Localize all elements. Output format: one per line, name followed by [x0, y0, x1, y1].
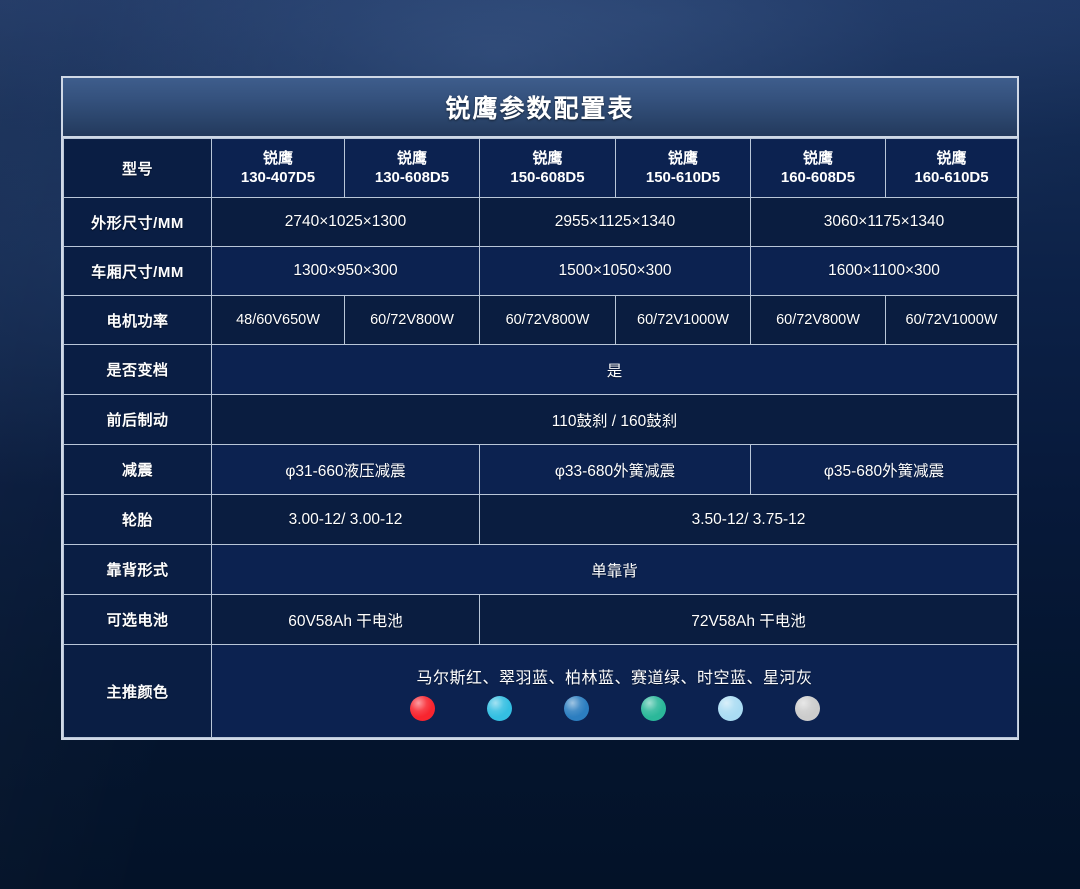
table-row: 轮胎3.00-12/ 3.00-123.50-12/ 3.75-12: [64, 495, 1018, 545]
column-header-model-2: 锐鹰130-608D5: [345, 139, 480, 198]
row-label: 是否变档: [64, 345, 212, 395]
table-header-row: 型号锐鹰130-407D5锐鹰130-608D5锐鹰150-608D5锐鹰150…: [64, 139, 1018, 198]
column-header-code: 150-610D5: [616, 168, 750, 187]
table-cell: φ31-660液压减震: [212, 445, 480, 495]
table-cell: 110鼓刹 / 160鼓刹: [212, 395, 1018, 445]
row-label: 车厢尺寸/MM: [64, 247, 212, 296]
table-cell: 3060×1175×1340: [751, 198, 1018, 247]
column-header-model-3: 锐鹰150-608D5: [480, 139, 616, 198]
row-label-colors: 主推颜色: [64, 645, 212, 738]
row-label: 减震: [64, 445, 212, 495]
row-label: 靠背形式: [64, 545, 212, 595]
row-label: 前后制动: [64, 395, 212, 445]
column-header-model-5: 锐鹰160-608D5: [751, 139, 886, 198]
table-cell: φ35-680外簧减震: [751, 445, 1018, 495]
column-header-code: 130-407D5: [212, 168, 344, 187]
row-label: 外形尺寸/MM: [64, 198, 212, 247]
table-title-bar: 锐鹰参数配置表: [61, 76, 1019, 138]
table-row: 车厢尺寸/MM1300×950×3001500×1050×3001600×110…: [64, 247, 1018, 296]
table-cell: 3.00-12/ 3.00-12: [212, 495, 480, 545]
color-swatch-6[interactable]: [795, 696, 820, 721]
color-names-text: 马尔斯红、翠羽蓝、柏林蓝、赛道绿、时空蓝、星河灰: [416, 664, 812, 688]
column-header-brand: 锐鹰: [345, 149, 479, 168]
table-row: 是否变档是: [64, 345, 1018, 395]
table-cell: 2955×1125×1340: [480, 198, 751, 247]
table-cell: 72V58Ah 干电池: [480, 595, 1018, 645]
page-title: 锐鹰参数配置表: [445, 89, 634, 125]
column-header-code: 150-608D5: [480, 168, 615, 187]
table-row: 可选电池60V58Ah 干电池72V58Ah 干电池: [64, 595, 1018, 645]
table-cell: 60/72V800W: [480, 296, 616, 345]
table-row: 电机功率48/60V650W60/72V800W60/72V800W60/72V…: [64, 296, 1018, 345]
table-cell: 60/72V800W: [751, 296, 886, 345]
table-cell: 48/60V650W: [212, 296, 345, 345]
color-options: 马尔斯红、翠羽蓝、柏林蓝、赛道绿、时空蓝、星河灰: [212, 658, 1017, 725]
table-cell: 60/72V1000W: [886, 296, 1018, 345]
table-cell: 60/72V1000W: [616, 296, 751, 345]
table-row-colors: 主推颜色马尔斯红、翠羽蓝、柏林蓝、赛道绿、时空蓝、星河灰: [64, 645, 1018, 738]
table-cell: 1300×950×300: [212, 247, 480, 296]
column-header-brand: 锐鹰: [480, 149, 615, 168]
table-cell: 60V58Ah 干电池: [212, 595, 480, 645]
color-swatch-list: [410, 696, 820, 721]
spec-table: 型号锐鹰130-407D5锐鹰130-608D5锐鹰150-608D5锐鹰150…: [63, 138, 1018, 738]
table-cell: 2740×1025×1300: [212, 198, 480, 247]
column-header-brand: 锐鹰: [886, 149, 1017, 168]
spec-table-grid: 型号锐鹰130-407D5锐鹰130-608D5锐鹰150-608D5锐鹰150…: [61, 138, 1019, 740]
table-cell: 3.50-12/ 3.75-12: [480, 495, 1018, 545]
column-header-code: 160-608D5: [751, 168, 885, 187]
color-swatch-1[interactable]: [410, 696, 435, 721]
table-cell: φ33-680外簧减震: [480, 445, 751, 495]
table-cell: 1600×1100×300: [751, 247, 1018, 296]
column-header-model-1: 锐鹰130-407D5: [212, 139, 345, 198]
table-row: 外形尺寸/MM2740×1025×13002955×1125×13403060×…: [64, 198, 1018, 247]
table-row: 减震φ31-660液压减震φ33-680外簧减震φ35-680外簧减震: [64, 445, 1018, 495]
table-row: 靠背形式单靠背: [64, 545, 1018, 595]
color-swatch-3[interactable]: [564, 696, 589, 721]
table-cell: 60/72V800W: [345, 296, 480, 345]
color-swatch-2[interactable]: [487, 696, 512, 721]
table-row: 前后制动110鼓刹 / 160鼓刹: [64, 395, 1018, 445]
column-header-brand: 锐鹰: [751, 149, 885, 168]
header-label-model: 型号: [64, 139, 212, 198]
row-label: 可选电池: [64, 595, 212, 645]
color-options-cell: 马尔斯红、翠羽蓝、柏林蓝、赛道绿、时空蓝、星河灰: [212, 645, 1018, 738]
column-header-brand: 锐鹰: [616, 149, 750, 168]
table-cell: 单靠背: [212, 545, 1018, 595]
color-swatch-4[interactable]: [641, 696, 666, 721]
column-header-code: 130-608D5: [345, 168, 479, 187]
row-label: 轮胎: [64, 495, 212, 545]
color-swatch-5[interactable]: [718, 696, 743, 721]
table-cell: 是: [212, 345, 1018, 395]
column-header-model-6: 锐鹰160-610D5: [886, 139, 1018, 198]
column-header-code: 160-610D5: [886, 168, 1017, 187]
row-label: 电机功率: [64, 296, 212, 345]
column-header-brand: 锐鹰: [212, 149, 344, 168]
spec-table-card: 锐鹰参数配置表 型号锐鹰130-407D5锐鹰130-608D5锐鹰150-60…: [61, 76, 1019, 748]
table-cell: 1500×1050×300: [480, 247, 751, 296]
column-header-model-4: 锐鹰150-610D5: [616, 139, 751, 198]
